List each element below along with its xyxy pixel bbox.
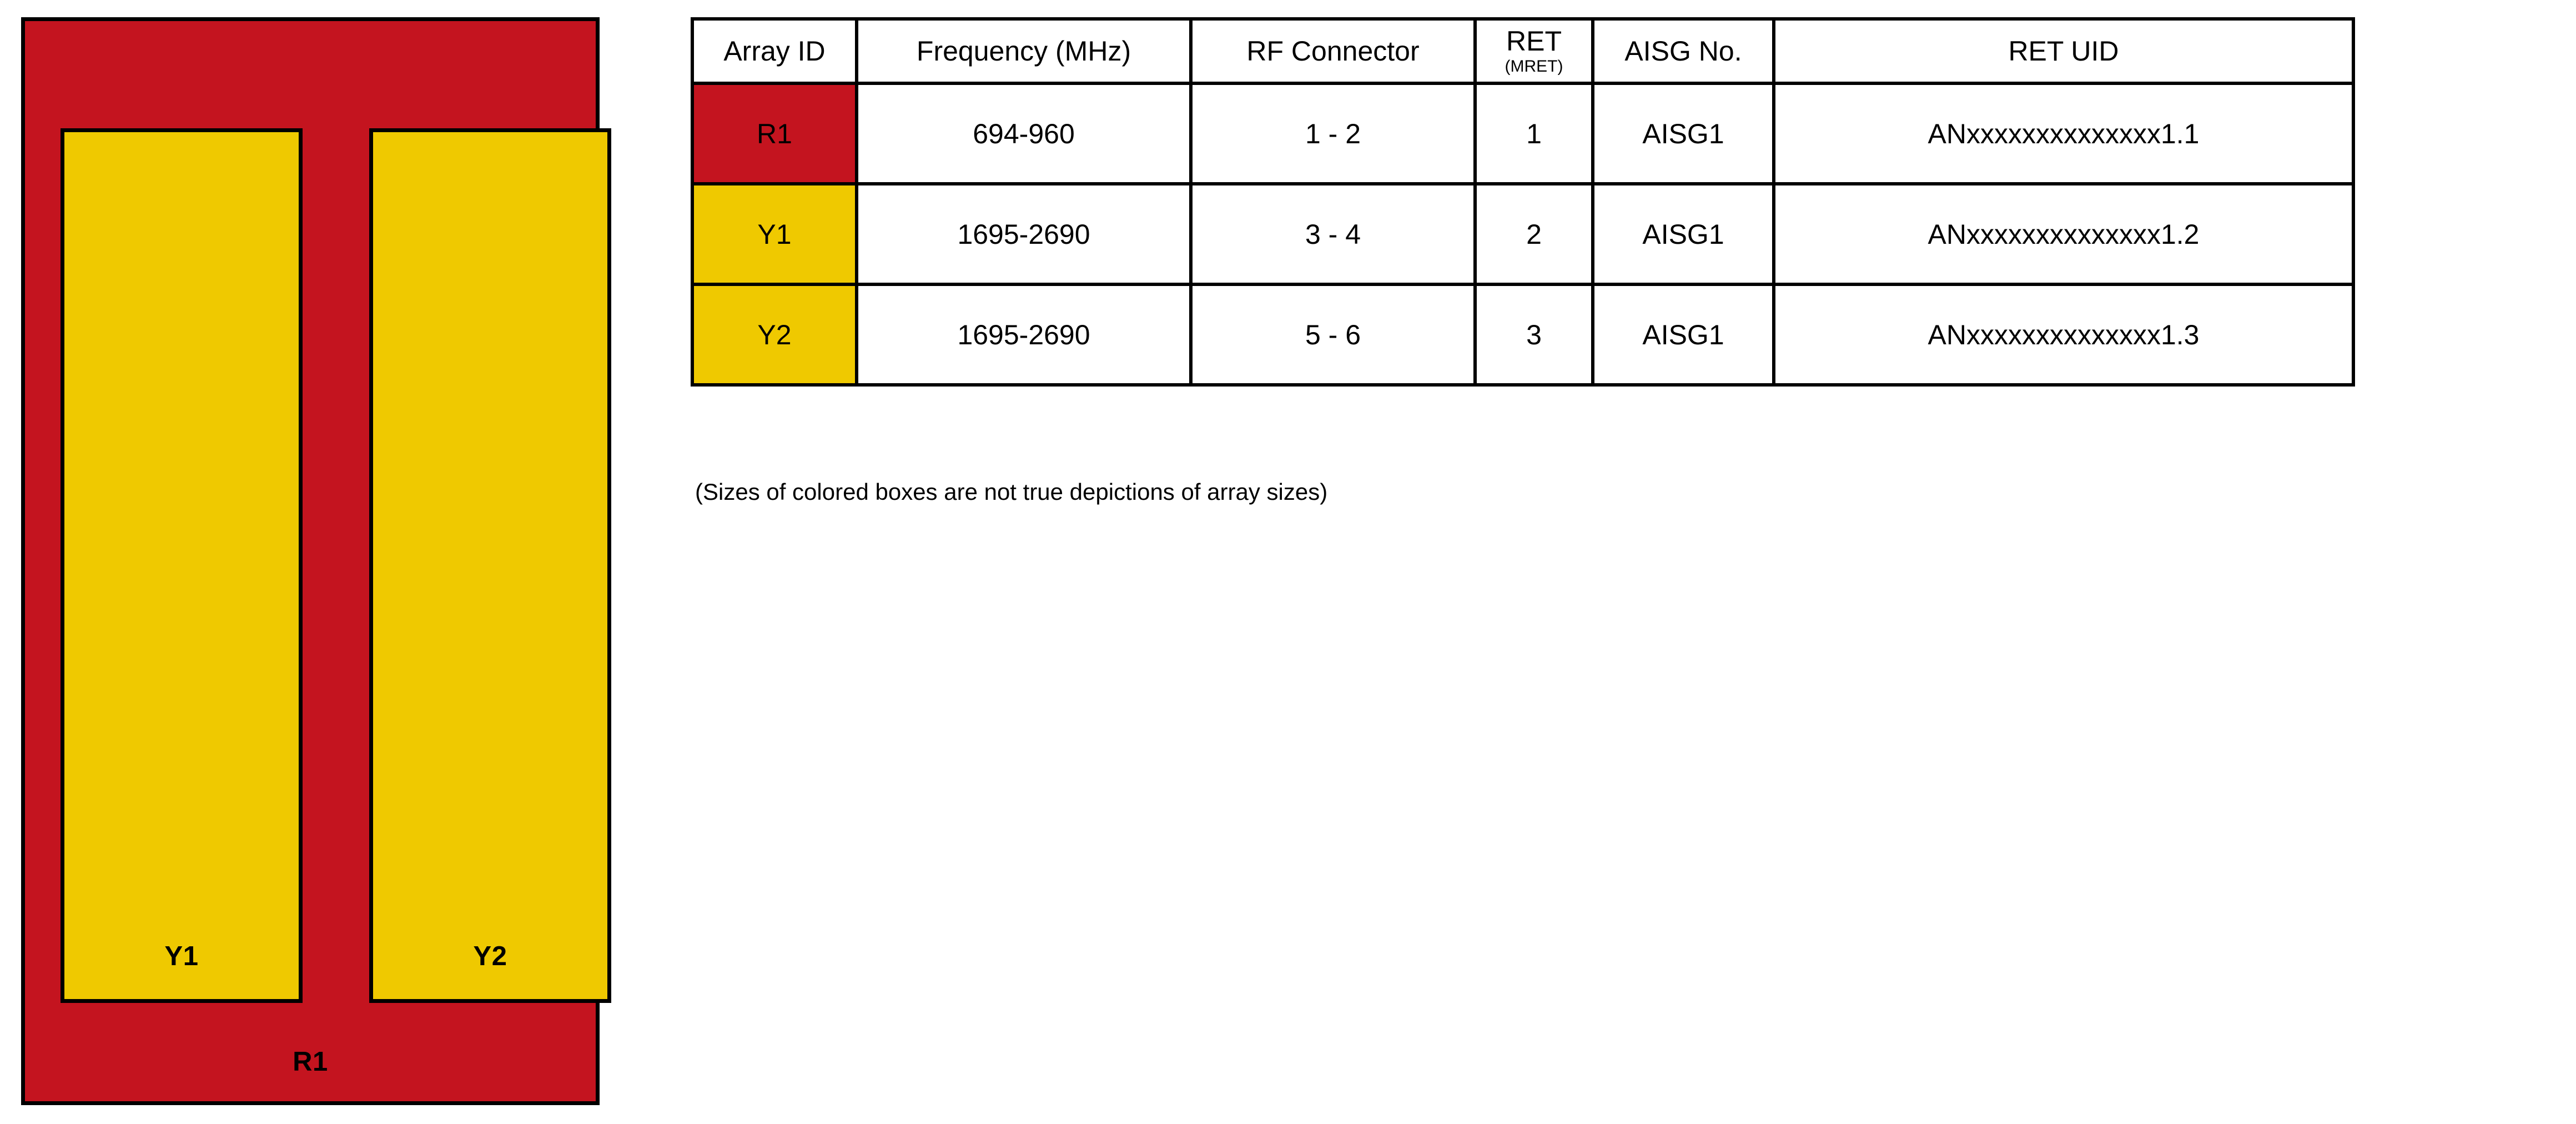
cell-rf-connector: 1 - 2 — [1191, 83, 1475, 184]
cell-array-id: Y2 — [692, 284, 857, 385]
cell-aisg-no: AISG1 — [1593, 184, 1774, 284]
column-header-rf-connector: RF Connector — [1191, 19, 1475, 83]
cell-array-id: Y1 — [692, 184, 857, 284]
column-header-ret: RET (MRET) — [1475, 19, 1593, 83]
column-header-ret-main: RET — [1477, 27, 1591, 55]
cell-ret-uid: ANxxxxxxxxxxxxxx1.2 — [1774, 184, 2353, 284]
table-row: Y1 1695-2690 3 - 4 2 AISG1 ANxxxxxxxxxxx… — [692, 184, 2353, 284]
array-configuration-table: Array ID Frequency (MHz) RF Connector RE… — [691, 17, 2355, 387]
antenna-array-schematic: R1 Y1 Y2 — [21, 17, 600, 1105]
cell-ret-uid: ANxxxxxxxxxxxxxx1.3 — [1774, 284, 2353, 385]
column-header-frequency: Frequency (MHz) — [857, 19, 1191, 83]
table-row: R1 694-960 1 - 2 1 AISG1 ANxxxxxxxxxxxxx… — [692, 83, 2353, 184]
array-label-y2: Y2 — [474, 943, 507, 999]
cell-rf-connector: 5 - 6 — [1191, 284, 1475, 385]
column-header-ret-uid: RET UID — [1774, 19, 2353, 83]
cell-aisg-no: AISG1 — [1593, 284, 1774, 385]
table-header-row: Array ID Frequency (MHz) RF Connector RE… — [692, 19, 2353, 83]
cell-frequency: 1695-2690 — [857, 284, 1191, 385]
cell-aisg-no: AISG1 — [1593, 83, 1774, 184]
cell-ret-uid: ANxxxxxxxxxxxxxx1.1 — [1774, 83, 2353, 184]
array-label-y1: Y1 — [165, 943, 199, 999]
cell-rf-connector: 3 - 4 — [1191, 184, 1475, 284]
column-header-ret-sub: (MRET) — [1477, 57, 1591, 76]
cell-array-id: R1 — [692, 83, 857, 184]
cell-ret: 2 — [1475, 184, 1593, 284]
reflector-label-r1: R1 — [25, 1048, 596, 1076]
cell-ret: 1 — [1475, 83, 1593, 184]
cell-frequency: 1695-2690 — [857, 184, 1191, 284]
column-header-aisg-no: AISG No. — [1593, 19, 1774, 83]
cell-frequency: 694-960 — [857, 83, 1191, 184]
cell-ret: 3 — [1475, 284, 1593, 385]
array-box-y1: Y1 — [61, 128, 303, 1003]
diagram-footnote: (Sizes of colored boxes are not true dep… — [695, 479, 1327, 505]
table-row: Y2 1695-2690 5 - 6 3 AISG1 ANxxxxxxxxxxx… — [692, 284, 2353, 385]
array-configuration-table-container: Array ID Frequency (MHz) RF Connector RE… — [691, 17, 2352, 387]
column-header-array-id: Array ID — [692, 19, 857, 83]
array-box-y2: Y2 — [369, 128, 611, 1003]
